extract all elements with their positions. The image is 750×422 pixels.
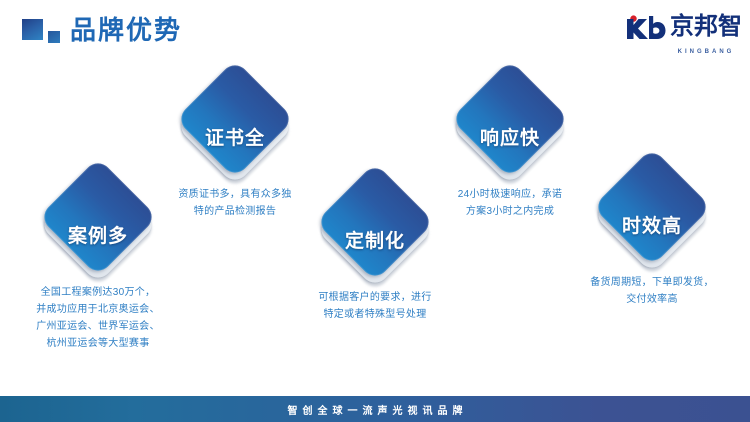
diamond-shape: 定制化	[316, 165, 434, 283]
feature-card[interactable]: 时效高 备货周期短，下单即发货， 交付效率高	[562, 150, 742, 308]
card-description-line: 全国工程案例达30万个，	[8, 284, 188, 301]
diamond-face	[593, 148, 712, 267]
blue-square-large-icon	[22, 19, 43, 40]
card-description: 备货周期短，下单即发货， 交付效率高	[562, 274, 742, 308]
card-description-line: 并成功应用于北京奥运会、	[8, 301, 188, 318]
logo-english: KINGBANG	[670, 48, 742, 56]
slide-footer: 智创全球一流声光视讯品牌	[0, 396, 750, 422]
card-description: 可根据客户的要求，进行 特定或者特殊型号处理	[285, 289, 465, 323]
card-description-line: 交付效率高	[562, 291, 742, 308]
card-description-line: 特定或者特殊型号处理	[285, 306, 465, 323]
diamond-shape: 响应快	[451, 62, 569, 180]
brand-logo: 京邦智 KINGBANG	[624, 14, 742, 48]
slide-header: 品牌优势 京邦智 KINGBANG	[0, 0, 750, 56]
logo-text-wrap: 京邦智 KINGBANG	[670, 15, 742, 47]
diamond-face	[451, 60, 570, 179]
diamond-face	[316, 163, 435, 282]
logo-mark-icon	[624, 15, 666, 48]
footer-slogan: 智创全球一流声光视讯品牌	[283, 402, 468, 417]
diamond-shape: 证书全	[176, 62, 294, 180]
diamond-shape: 案例多	[39, 160, 157, 278]
card-description-line: 备货周期短，下单即发货，	[562, 274, 742, 291]
card-description: 全国工程案例达30万个， 并成功应用于北京奥运会、 广州亚运会、世界军运会、 杭…	[8, 284, 188, 352]
slide-canvas: 品牌优势 京邦智 KINGBANG 案例多 全国工程案例达30万个，	[0, 0, 750, 422]
card-description-line: 广州亚运会、世界军运会、	[8, 318, 188, 335]
diamond-shape: 时效高	[593, 150, 711, 268]
page-title: 品牌优势	[70, 13, 182, 47]
card-description-line: 可根据客户的要求，进行	[285, 289, 465, 306]
diamond-face	[176, 60, 295, 179]
blue-square-small-icon	[48, 31, 60, 43]
diamond-face	[39, 158, 158, 277]
card-description-line: 杭州亚运会等大型赛事	[8, 335, 188, 352]
logo-chinese: 京邦智	[670, 13, 742, 40]
